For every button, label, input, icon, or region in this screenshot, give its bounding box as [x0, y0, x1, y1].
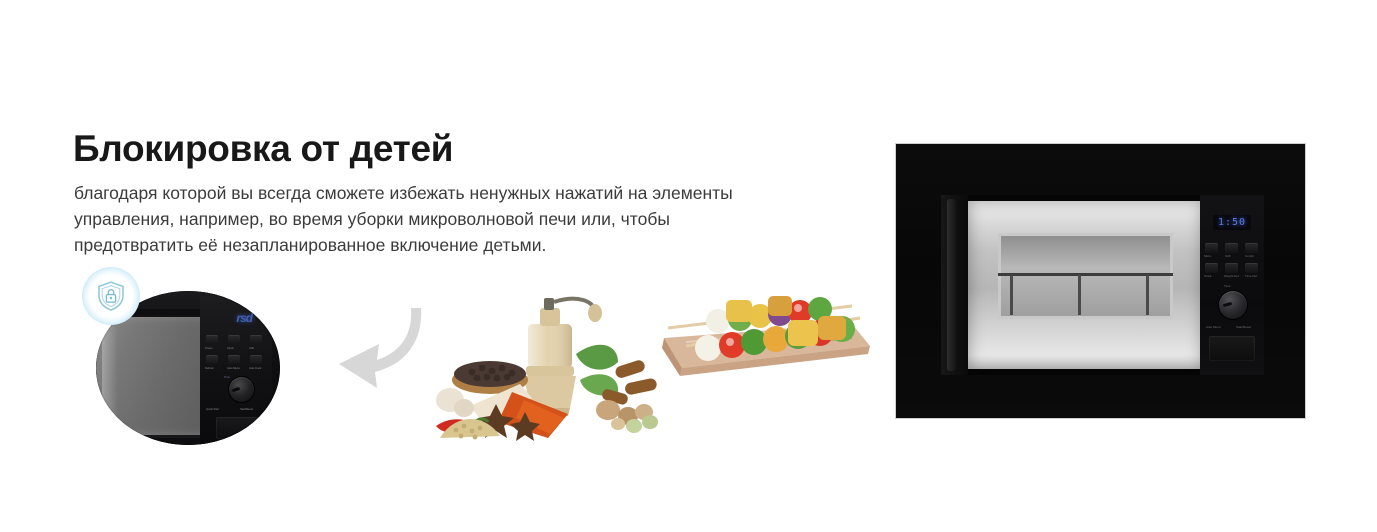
rack-leg	[1078, 275, 1081, 315]
shield-lock-icon	[82, 267, 140, 325]
panel-button-label: Auto Menu	[227, 366, 240, 370]
panel-button-label: Grill	[1225, 254, 1230, 258]
description-line: управления, например, во время уборки ми…	[74, 206, 834, 232]
oven-door-handle[interactable]	[947, 199, 956, 371]
oven-door-left	[941, 195, 968, 375]
panel-button-label: Time Def	[1245, 274, 1257, 278]
panel-button-label: Weight Def	[1224, 274, 1239, 278]
panel-button[interactable]	[1225, 263, 1238, 273]
display-screen: 1:50	[1213, 215, 1251, 230]
panel-button-label: Grill	[249, 346, 253, 350]
panel-vent	[216, 417, 258, 439]
panel-button[interactable]	[1205, 243, 1218, 253]
panel-button[interactable]	[250, 355, 262, 364]
panel-button-label: Auto Cook	[249, 366, 261, 370]
panel-button-label: Combi	[1245, 254, 1254, 258]
oven-control-panel: 1:50 Micro Grill Combi Clock Weight Def …	[1200, 195, 1264, 375]
panel-button[interactable]	[1205, 263, 1218, 273]
rack-leg	[1146, 275, 1149, 315]
feature-description: благодаря которой вы всегда сможете избе…	[74, 180, 834, 258]
spices-and-grinder-image	[428, 288, 664, 446]
built-in-microwave-photo: 1:50 Micro Grill Combi Clock Weight Def …	[896, 144, 1305, 418]
panel-button-label: Clock	[227, 346, 234, 350]
panel-button[interactable]	[206, 355, 218, 364]
curved-arrow-left-icon	[333, 302, 429, 398]
panel-button[interactable]	[250, 335, 262, 344]
panel-button-label: Defrost	[205, 366, 213, 370]
time-knob[interactable]	[229, 377, 254, 402]
panel-button-label: Quick Start	[206, 407, 219, 411]
brand-logo: rsd	[236, 311, 252, 325]
dial-label: Time	[1224, 284, 1231, 288]
panel-button-label: Power	[205, 346, 213, 350]
microwave-control-panel: rsd Power Clock Grill Defrost Auto Menu …	[200, 291, 272, 445]
panel-button-label: Micro	[1204, 254, 1211, 258]
time-dial[interactable]	[1219, 291, 1247, 319]
description-line: благодаря которой вы всегда сможете избе…	[74, 180, 834, 206]
panel-button[interactable]	[206, 335, 218, 344]
knob-label: Time	[224, 375, 230, 379]
oven-cavity	[968, 201, 1203, 369]
panel-button[interactable]	[228, 355, 240, 364]
description-line: предотвратить её незапланированное включ…	[74, 232, 834, 258]
panel-button-label: Auto Menu	[1206, 325, 1221, 329]
panel-button[interactable]	[228, 335, 240, 344]
panel-button[interactable]	[1245, 263, 1258, 273]
panel-button[interactable]	[1225, 243, 1238, 253]
rack-leg	[1010, 275, 1013, 315]
panel-button[interactable]	[1245, 243, 1258, 253]
panel-button-label: Start/Reset	[1236, 325, 1251, 329]
panel-button-label: Clock	[1204, 274, 1212, 278]
panel-button-label: Start/Reset	[240, 407, 253, 411]
page-title: Блокировка от детей	[73, 129, 453, 170]
panel-vent	[1209, 336, 1255, 361]
vegetable-skewers-image	[646, 272, 878, 384]
feature-banner: Блокировка от детей благодаря которой вы…	[0, 0, 1377, 532]
